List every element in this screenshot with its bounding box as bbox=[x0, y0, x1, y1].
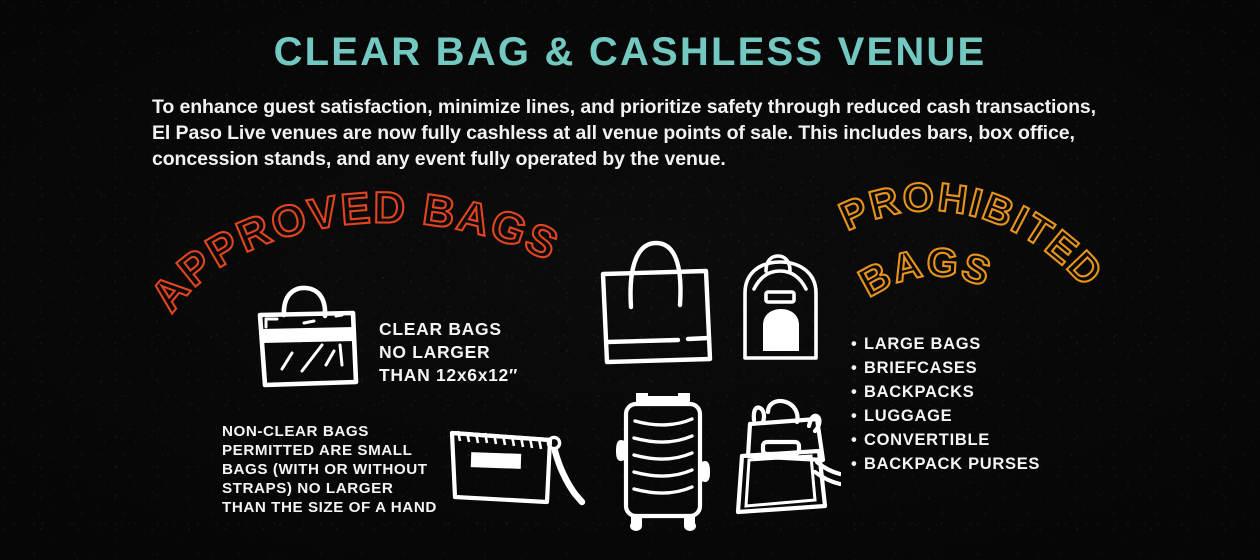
non-clear-bags-note: NON-CLEAR BAGS PERMITTED ARE SMALL BAGS … bbox=[222, 422, 437, 517]
list-item-label: BACKPACKS bbox=[864, 383, 975, 401]
bullet-icon: • bbox=[851, 428, 864, 452]
intro-paragraph: To enhance guest satisfaction, minimize … bbox=[152, 94, 1104, 172]
bullet-icon: • bbox=[851, 452, 864, 476]
list-item-label: LUGGAGE bbox=[864, 407, 952, 425]
page-title: CLEAR BAG & CASHLESS VENUE bbox=[0, 32, 1260, 72]
backpack-icon bbox=[739, 253, 823, 365]
zipper-pouch-bag-icon bbox=[449, 424, 594, 516]
convertible-backpack-purse-icon bbox=[729, 394, 841, 522]
list-item: •BACKPACKS bbox=[851, 380, 1040, 404]
list-item: •BACKPACK PURSES bbox=[851, 452, 1040, 476]
bullet-icon: • bbox=[851, 380, 864, 404]
clear-bags-note-line-1: CLEAR BAGS bbox=[379, 318, 518, 341]
list-item-label: CONVERTIBLE bbox=[864, 431, 990, 449]
prohibited-bags-heading: PROHIBITED BAGS bbox=[825, 185, 1095, 320]
list-item: •CONVERTIBLE bbox=[851, 428, 1040, 452]
clear-bags-note-line-2: NO LARGER bbox=[379, 341, 518, 364]
rolling-luggage-icon bbox=[614, 389, 714, 531]
prohibited-items-list: •LARGE BAGS •BRIEFCASES •BACKPACKS •LUGG… bbox=[851, 332, 1040, 476]
list-item-label: BACKPACK PURSES bbox=[864, 455, 1040, 473]
prohibited-bags-heading-line2: BAGS bbox=[852, 240, 998, 305]
infographic-canvas: CLEAR BAG & CASHLESS VENUE To enhance gu… bbox=[0, 0, 1260, 560]
bullet-icon: • bbox=[851, 356, 864, 380]
list-item-label: BRIEFCASES bbox=[864, 359, 977, 377]
list-item: •BRIEFCASES bbox=[851, 356, 1040, 380]
bullet-icon: • bbox=[851, 332, 864, 356]
clear-tote-bag-icon bbox=[252, 283, 364, 390]
list-item: •LARGE BAGS bbox=[851, 332, 1040, 356]
bullet-icon: • bbox=[851, 404, 864, 428]
list-item-label: LARGE BAGS bbox=[864, 335, 981, 353]
clear-bags-note: CLEAR BAGS NO LARGER THAN 12x6x12″ bbox=[379, 318, 518, 387]
large-tote-bag-icon bbox=[598, 231, 716, 366]
clear-bags-note-line-3: THAN 12x6x12″ bbox=[379, 364, 518, 387]
list-item: •LUGGAGE bbox=[851, 404, 1040, 428]
